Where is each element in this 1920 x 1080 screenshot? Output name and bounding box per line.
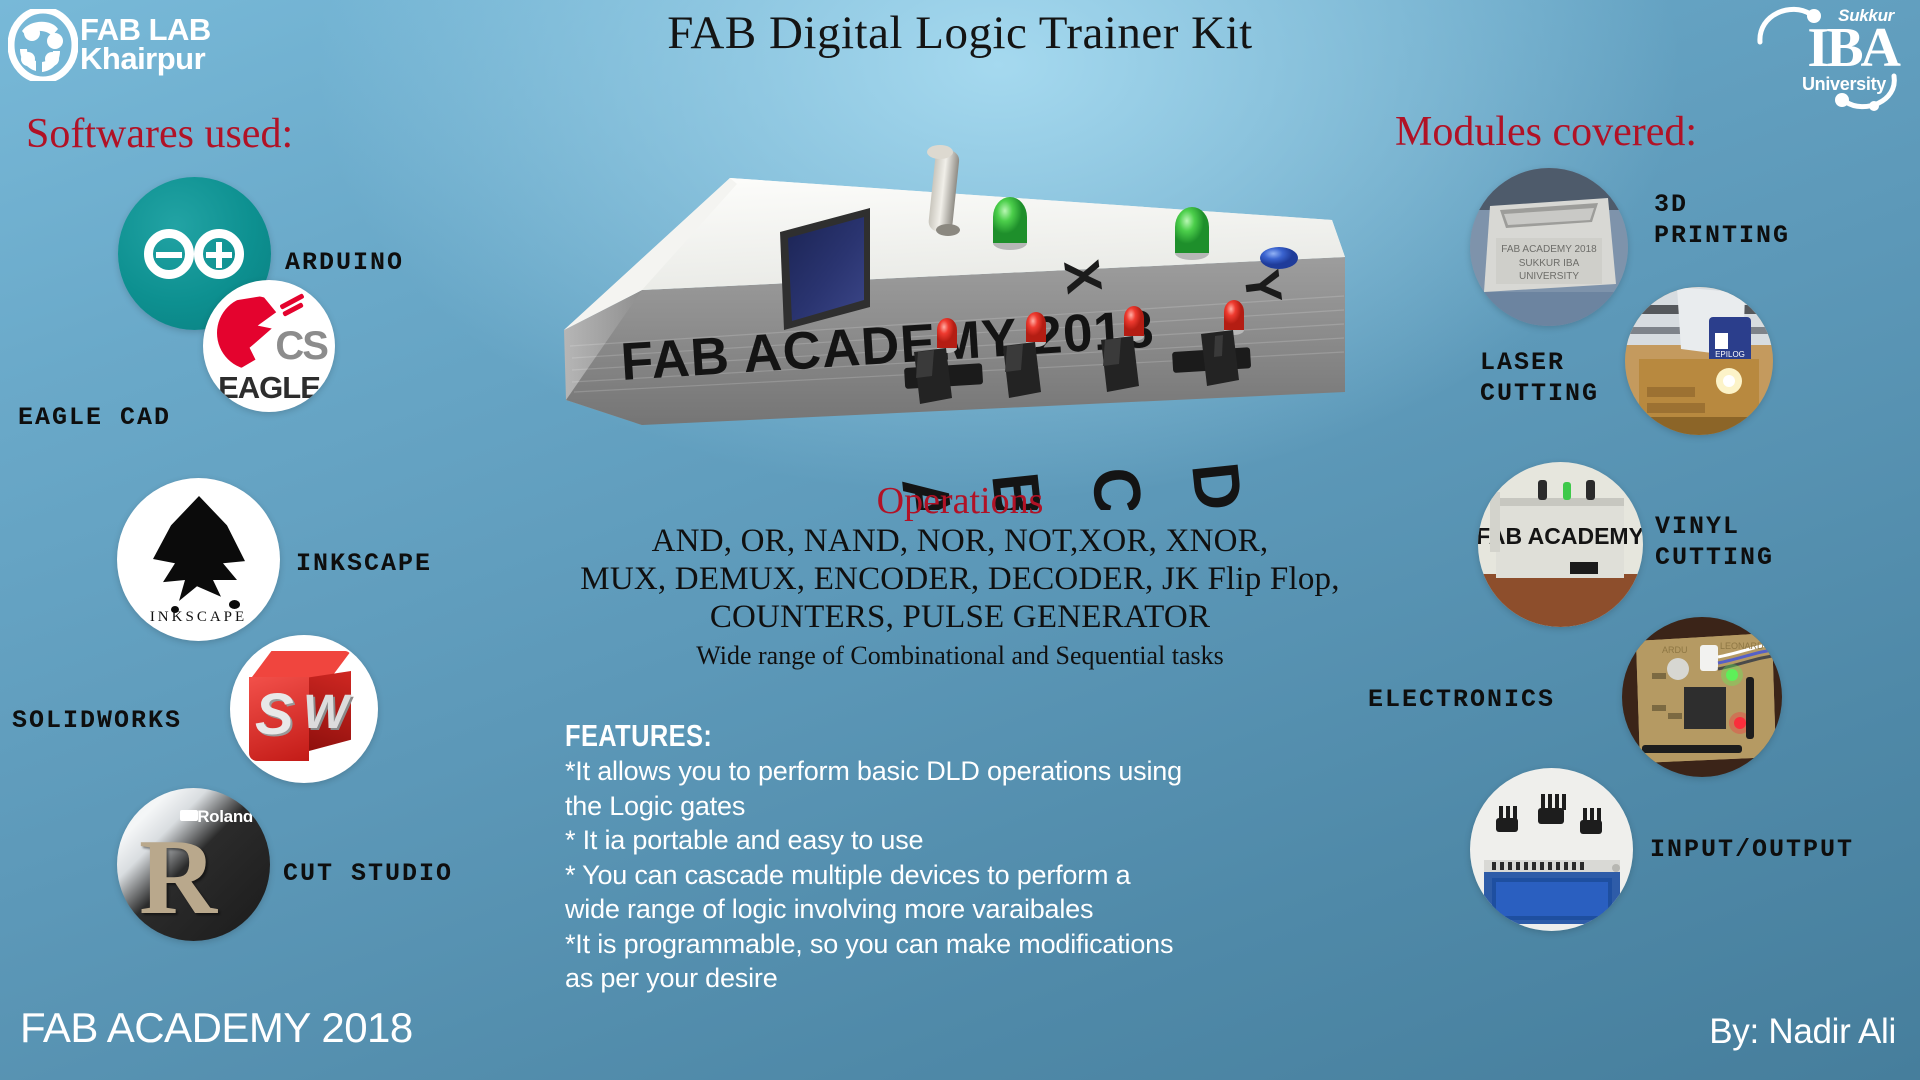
operations-section: Operations AND, OR, NAND, NOR, NOT,XOR, … bbox=[520, 482, 1400, 672]
module-label-vinyl-cutting: VINYL CUTTING bbox=[1655, 512, 1774, 573]
module-photo-laser-cutting: EPILOG bbox=[1625, 287, 1773, 435]
module-photo-input-output bbox=[1470, 768, 1633, 931]
module-label-vinyl-cutting-line2: CUTTING bbox=[1655, 543, 1774, 574]
fab-digital-logic-trainer-kit-photo: FAB ACADEMY 2018 X Y bbox=[552, 80, 1352, 510]
module-label-laser-cutting-line1: LASER bbox=[1480, 348, 1599, 379]
footer-author-text: By: Nadir Ali bbox=[1709, 1012, 1896, 1052]
module-label-3d-printing-line1: 3D bbox=[1654, 190, 1790, 221]
features-heading: FEATURES: bbox=[565, 718, 1221, 754]
software-label-eagle-cad: EAGLE CAD bbox=[18, 403, 171, 434]
module-label-3d-printing-line2: PRINTING bbox=[1654, 221, 1790, 252]
solidworks-cube-glyph: S W bbox=[243, 651, 361, 769]
svg-text:UNIVERSITY: UNIVERSITY bbox=[1519, 271, 1579, 282]
roland-cut-studio-logo-icon: Roland R bbox=[117, 788, 270, 941]
feature-line-5: wide range of logic involving more varai… bbox=[565, 892, 1365, 927]
features-section: FEATURES: *It allows you to perform basi… bbox=[565, 718, 1365, 996]
module-label-laser-cutting-line2: CUTTING bbox=[1480, 379, 1599, 410]
svg-text:FAB ACADEMY: FAB ACADEMY bbox=[1478, 523, 1643, 549]
operations-line-3: COUNTERS, PULSE GENERATOR bbox=[520, 598, 1400, 636]
feature-line-2: the Logic gates bbox=[565, 789, 1365, 824]
eagle-cs-text: CS bbox=[275, 324, 327, 369]
svg-text:Y: Y bbox=[1233, 267, 1293, 307]
software-label-cut-studio: CUT STUDIO bbox=[283, 859, 453, 890]
inkscape-logo-icon: INKSCAPE bbox=[117, 478, 280, 641]
module-photo-electronics: ARDU LEONARD bbox=[1622, 617, 1782, 777]
footer-left-text: FAB ACADEMY 2018 bbox=[20, 1004, 413, 1052]
solidworks-w-glyph: W bbox=[303, 685, 348, 740]
feature-line-4: * You can cascade multiple devices to pe… bbox=[565, 858, 1365, 893]
module-label-vinyl-cutting-line1: VINYL bbox=[1655, 512, 1774, 543]
software-label-inkscape: INKSCAPE bbox=[296, 549, 432, 580]
solidworks-logo-icon: S W bbox=[230, 635, 378, 783]
arduino-infinity-glyph bbox=[144, 229, 244, 279]
softwares-used-heading: Softwares used: bbox=[26, 110, 293, 158]
roland-r-glyph: R bbox=[139, 830, 217, 925]
svg-text:X: X bbox=[1053, 257, 1113, 297]
operations-subtitle: Wide range of Combinational and Sequenti… bbox=[520, 639, 1400, 673]
inkscape-wordmark: INKSCAPE bbox=[117, 609, 280, 626]
operations-line-2: MUX, DEMUX, ENCODER, DECODER, JK Flip Fl… bbox=[520, 560, 1400, 598]
feature-line-6: *It is programmable, so you can make mod… bbox=[565, 927, 1365, 962]
module-photo-3d-printing: FAB ACADEMY 2018 SUKKUR IBA UNIVERSITY bbox=[1470, 168, 1628, 326]
feature-line-7: as per your desire bbox=[565, 961, 1365, 996]
software-label-arduino: ARDUINO bbox=[285, 248, 404, 279]
feature-line-1: *It allows you to perform basic DLD oper… bbox=[565, 754, 1365, 789]
operations-line-1: AND, OR, NAND, NOR, NOT,XOR, XNOR, bbox=[520, 522, 1400, 560]
module-label-laser-cutting: LASER CUTTING bbox=[1480, 348, 1599, 409]
svg-text:SUKKUR IBA: SUKKUR IBA bbox=[1519, 258, 1580, 269]
software-label-solidworks: SOLIDWORKS bbox=[12, 706, 182, 737]
module-label-input-output: INPUT/OUTPUT bbox=[1650, 835, 1854, 866]
eagle-wordmark: EAGLE bbox=[203, 370, 335, 406]
modules-covered-heading: Modules covered: bbox=[1395, 108, 1697, 156]
solidworks-s-glyph: S bbox=[255, 681, 294, 748]
iba-university-text: University bbox=[1802, 74, 1886, 95]
svg-text:ARDU: ARDU bbox=[1662, 645, 1688, 655]
operations-title: Operations bbox=[520, 482, 1400, 522]
svg-text:LEONARD: LEONARD bbox=[1720, 641, 1764, 651]
module-label-3d-printing: 3D PRINTING bbox=[1654, 190, 1790, 251]
svg-text:EPILOG: EPILOG bbox=[1715, 350, 1745, 359]
module-label-electronics: ELECTRONICS bbox=[1368, 685, 1555, 716]
page-title: FAB Digital Logic Trainer Kit bbox=[0, 6, 1920, 60]
feature-line-3: * It ia portable and easy to use bbox=[565, 823, 1365, 858]
module-photo-vinyl-cutting: FAB ACADEMY bbox=[1478, 462, 1643, 627]
inkscape-mark-glyph bbox=[149, 496, 249, 601]
eagle-cad-logo-icon: CS EAGLE bbox=[203, 280, 335, 412]
svg-text:FAB ACADEMY 2018: FAB ACADEMY 2018 bbox=[1501, 244, 1597, 255]
poster-canvas: FAB LAB Khairpur Sukkur IBA University F… bbox=[0, 0, 1920, 1080]
